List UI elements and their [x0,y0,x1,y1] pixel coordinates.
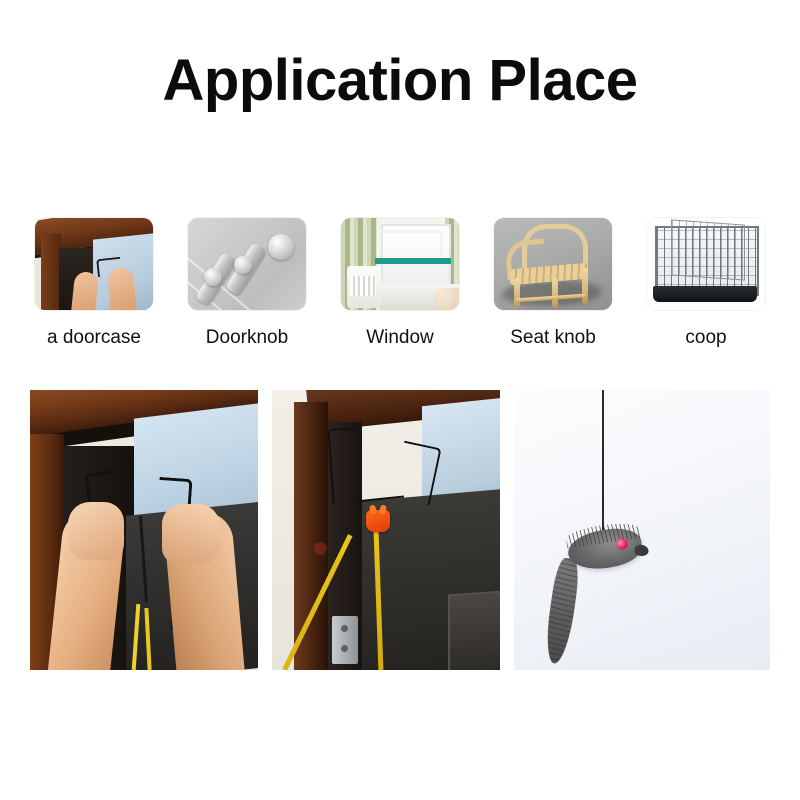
thumbnail-label-doorknob: Doorknob [206,327,288,349]
photo-door-frame-installation[interactable] [30,390,258,670]
hospital-window-photo-icon [341,218,459,310]
doorframe-install-photo-icon [35,218,153,310]
photo-hanger-mounted-with-clip[interactable] [272,390,500,670]
orange-cord-clip [366,510,390,532]
thumbnail-label-window: Window [366,327,434,349]
thumbnail-item-window[interactable]: Window [336,218,464,358]
thumbnail-item-seat-knob[interactable]: Seat knob [489,218,617,358]
photo-hanging-toy-mouse[interactable] [514,390,770,670]
door-handles-photo-icon [188,218,306,310]
thumbnail-item-doorknob[interactable]: Doorknob [183,218,311,358]
page-title: Application Place [0,52,800,110]
wooden-chair-photo-icon [494,218,612,310]
thumbnail-label-seat-knob: Seat knob [510,327,596,349]
thumbnail-label-coop: coop [685,327,726,349]
thumbnail-label-doorcase: a doorcase [47,327,141,349]
wire-cage-photo-icon [647,218,765,310]
thumbnail-item-coop[interactable]: coop [642,218,770,358]
thumbnail-item-doorcase[interactable]: a doorcase [30,218,158,358]
product-photo-row [30,390,770,670]
application-thumbnail-strip: a doorcase Doorknob [30,218,770,358]
